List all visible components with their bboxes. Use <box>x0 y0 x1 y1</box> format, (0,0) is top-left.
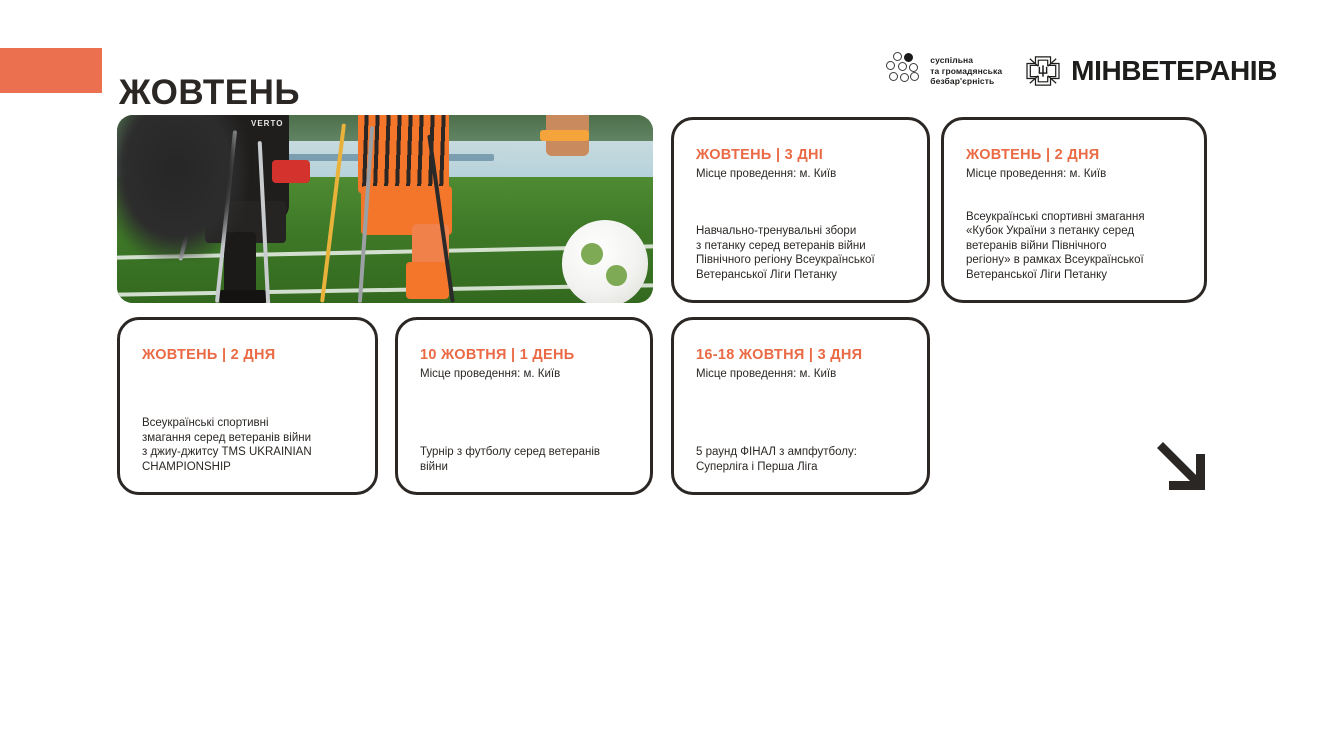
event-card-heading: ЖОВТЕНЬ | 2 ДНЯ <box>142 346 355 364</box>
barrier-free-logo: суспільна та громадянська безбар'єрність <box>885 52 1002 90</box>
event-card[interactable]: ЖОВТЕНЬ | 3 ДНІ Місце проведення: м. Киї… <box>671 117 930 303</box>
header-accent-block <box>0 48 102 93</box>
logo-group: суспільна та громадянська безбар'єрність… <box>885 52 1277 90</box>
event-card-heading: ЖОВТЕНЬ | 2 ДНЯ <box>966 146 1184 164</box>
event-card-description: Всеукраїнські спортивні змагання серед в… <box>142 416 355 474</box>
barrier-free-line-2: та громадянська <box>930 66 1002 77</box>
event-card-heading: ЖОВТЕНЬ | 3 ДНІ <box>696 146 907 164</box>
event-card-description: Навчально-тренувальні збори з петанку се… <box>696 224 907 282</box>
ministry-wordmark: МІНВЕТЕРАНІВ <box>1071 56 1277 86</box>
barrier-free-line-1: суспільна <box>930 55 1002 66</box>
event-card[interactable]: 16-18 ЖОВТНЯ | 3 ДНЯ Місце проведення: м… <box>671 317 930 495</box>
event-card[interactable]: ЖОВТЕНЬ | 2 ДНЯ Місце проведення: м. Киї… <box>941 117 1207 303</box>
amp-football-photo: VERTO <box>117 115 653 303</box>
event-card-place: Місце проведення: м. Київ <box>696 367 907 382</box>
arrow-down-right-icon[interactable] <box>1152 437 1214 499</box>
ministry-logo: МІНВЕТЕРАНІВ <box>1024 55 1277 87</box>
barrier-free-logo-text: суспільна та громадянська безбар'єрність <box>930 55 1002 87</box>
event-card-description: Турнір з футболу серед ветеранів війни <box>420 445 630 474</box>
event-card-place: Місце проведення: м. Київ <box>420 367 630 382</box>
page-title: ЖОВТЕНЬ <box>119 70 300 116</box>
ministry-cross-trident-emblem-icon <box>1024 55 1062 87</box>
event-card-place: Місце проведення: м. Київ <box>966 167 1184 182</box>
photo-jersey-text: VERTO <box>251 119 283 128</box>
event-card-place: Місце проведення: м. Київ <box>696 167 907 182</box>
event-card[interactable]: ЖОВТЕНЬ | 2 ДНЯ Всеукраїнські спортивні … <box>117 317 378 495</box>
barrier-free-line-3: безбар'єрність <box>930 76 1002 87</box>
event-card-description: 5 раунд ФІНАЛ з ампфутболу: Суперліга і … <box>696 445 907 474</box>
event-card-heading: 10 ЖОВТНЯ | 1 ДЕНЬ <box>420 346 630 364</box>
photo-illustration: VERTO <box>117 115 653 303</box>
event-card-heading: 16-18 ЖОВТНЯ | 3 ДНЯ <box>696 346 907 364</box>
event-card[interactable]: 10 ЖОВТНЯ | 1 ДЕНЬ Місце проведення: м. … <box>395 317 653 495</box>
event-card-description: Всеукраїнські спортивні змагання «Кубок … <box>966 210 1184 283</box>
dots-cluster-icon <box>885 52 921 90</box>
